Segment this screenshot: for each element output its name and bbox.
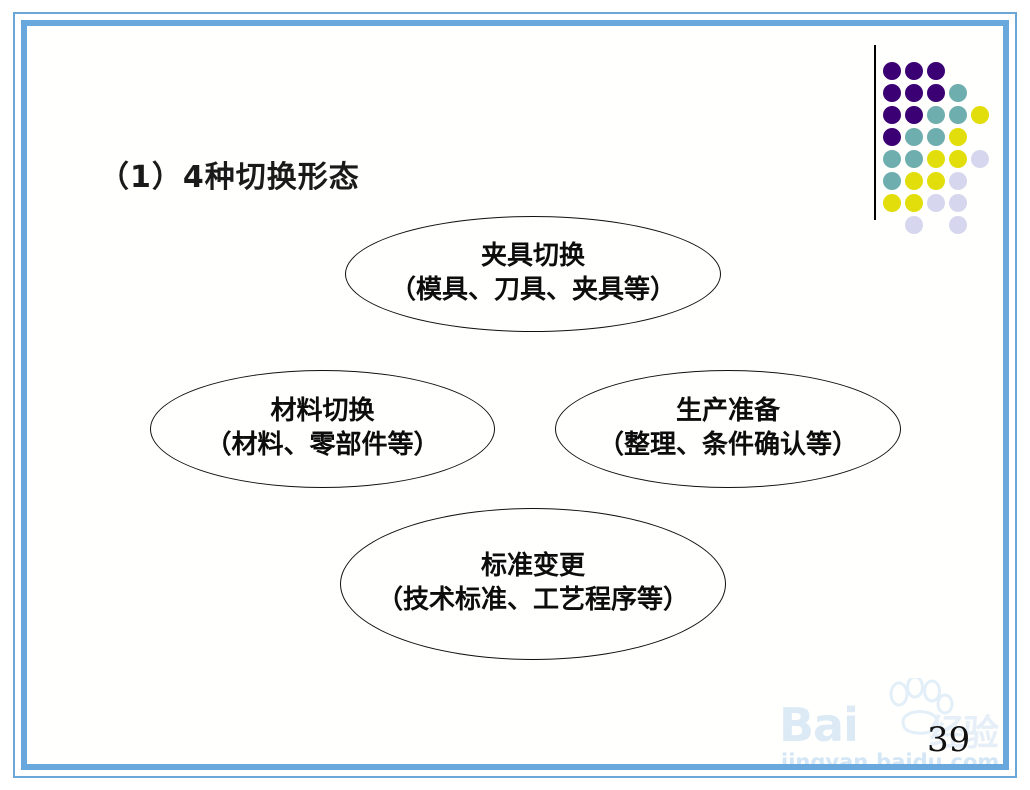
slide-canvas: （1）4种切换形态 夹具切换 （模具、刀具、夹具等） 材料切换 （材料、零部件等… (0, 0, 1030, 790)
dot-teal (883, 150, 901, 168)
dot-teal (927, 106, 945, 124)
dot-yellow (905, 194, 923, 212)
dot-purple (905, 84, 923, 102)
dot-grid-motif (859, 40, 989, 240)
dot-lavender (949, 216, 967, 234)
page-number: 39 (927, 720, 970, 760)
dot-yellow (949, 128, 967, 146)
dot-teal (949, 106, 967, 124)
slide-content-area: （1）4种切换形态 夹具切换 （模具、刀具、夹具等） 材料切换 （材料、零部件等… (27, 26, 1003, 764)
dot-yellow (883, 194, 901, 212)
dot-teal (905, 128, 923, 146)
ellipse-production-preparation-line2: （整理、条件确认等） (598, 429, 858, 463)
dot-lavender (905, 216, 923, 234)
dot-purple (883, 84, 901, 102)
watermark-wordmark: Bai (779, 698, 858, 752)
dot-yellow (905, 172, 923, 190)
dot-yellow (927, 150, 945, 168)
ellipse-production-preparation-line1: 生产准备 (676, 395, 780, 429)
ellipse-jig-changeover-line2: （模具、刀具、夹具等） (390, 274, 676, 308)
dot-lavender (971, 150, 989, 168)
ellipse-material-changeover[interactable]: 材料切换 （材料、零部件等） (150, 370, 495, 488)
dot-teal (883, 172, 901, 190)
dot-lavender (927, 194, 945, 212)
dot-teal (927, 128, 945, 146)
ellipse-production-preparation[interactable]: 生产准备 （整理、条件确认等） (555, 370, 901, 488)
ellipse-jig-changeover[interactable]: 夹具切换 （模具、刀具、夹具等） (345, 216, 721, 332)
dot-purple (905, 106, 923, 124)
page-title: （1）4种切换形态 (99, 152, 360, 196)
ellipse-jig-changeover-line1: 夹具切换 (481, 240, 585, 274)
dot-purple (883, 62, 901, 80)
dot-purple (927, 62, 945, 80)
dot-yellow (971, 106, 989, 124)
ellipse-standard-change[interactable]: 标准变更 （技术标准、工艺程序等） (340, 508, 726, 660)
ellipse-material-changeover-line2: （材料、零部件等） (205, 429, 439, 463)
ellipse-standard-change-line1: 标准变更 (481, 550, 585, 584)
dot-purple (883, 106, 901, 124)
ellipse-material-changeover-line1: 材料切换 (270, 395, 374, 429)
ellipse-standard-change-line2: （技术标准、工艺程序等） (377, 584, 689, 618)
dot-purple (927, 84, 945, 102)
dot-purple (883, 128, 901, 146)
dot-purple (905, 62, 923, 80)
dot-lavender (949, 172, 967, 190)
dot-teal (949, 84, 967, 102)
dot-yellow (949, 150, 967, 168)
dot-yellow (927, 172, 945, 190)
dot-lavender (949, 194, 967, 212)
dot-teal (905, 150, 923, 168)
